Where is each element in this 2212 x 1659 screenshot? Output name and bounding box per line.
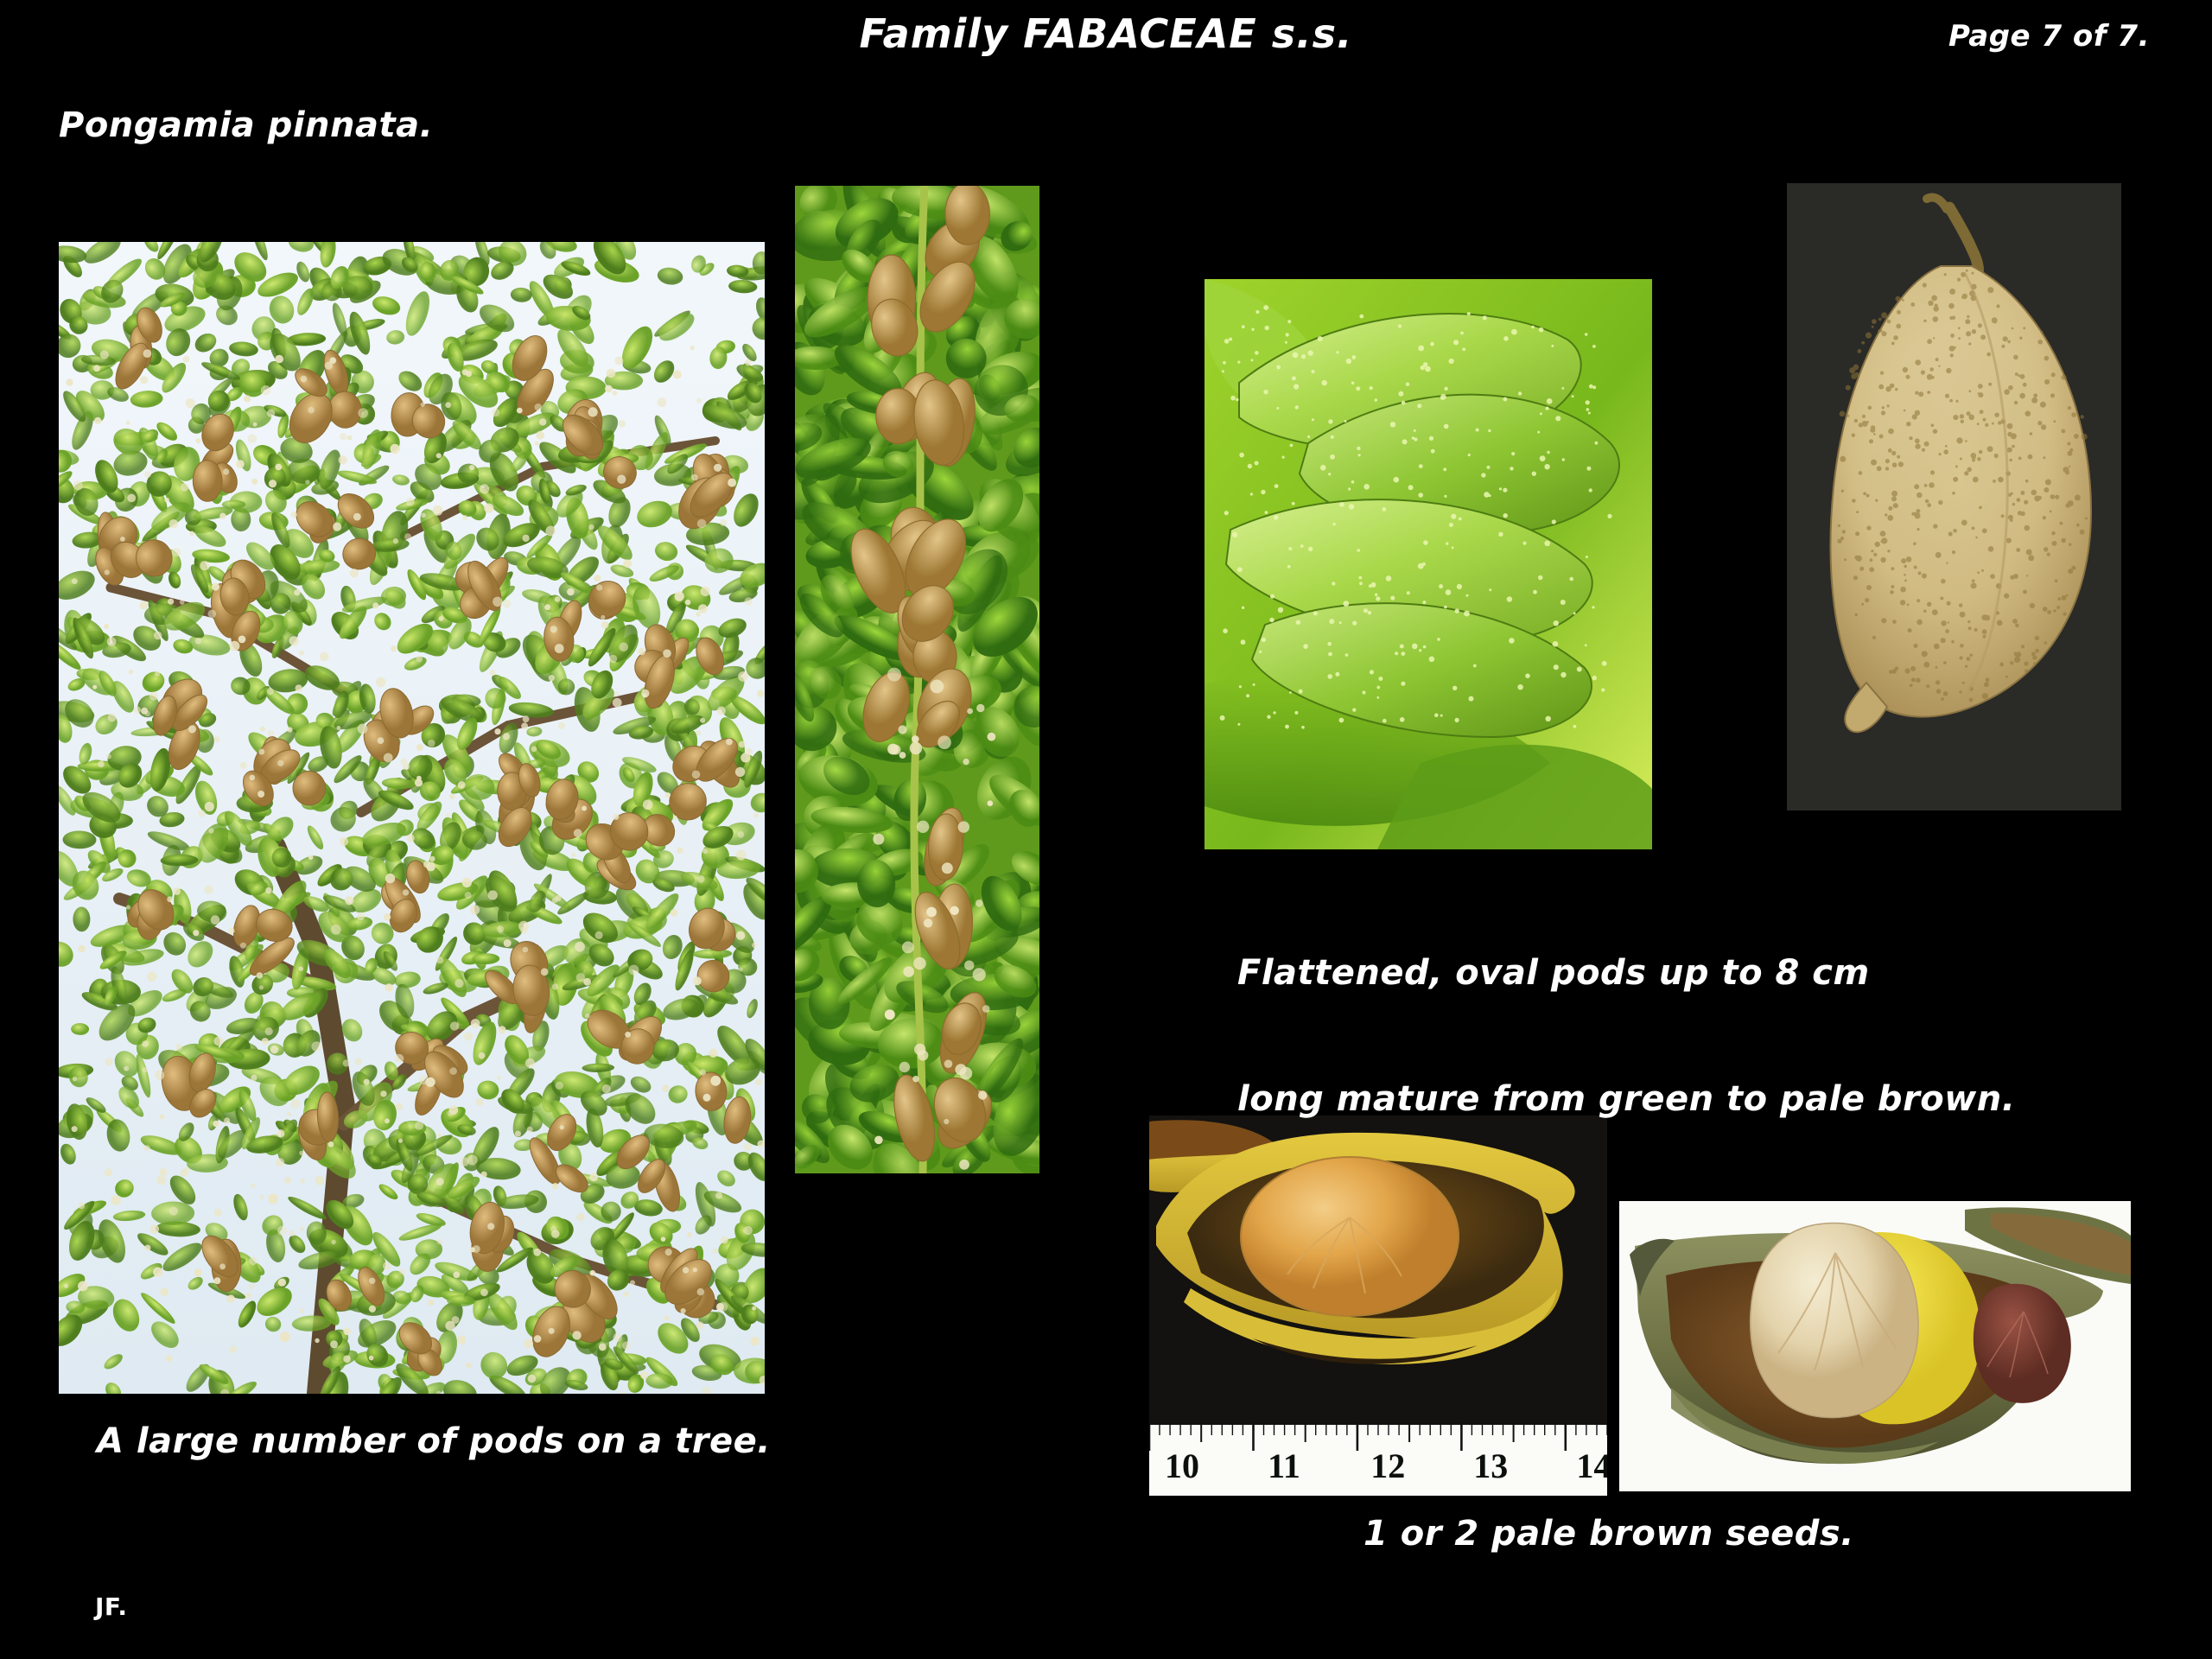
tree-with-pods-photo (59, 242, 765, 1394)
ruler-number: 10 (1165, 1446, 1199, 1486)
pods-caption-line2: long mature from green to pale brown. (1237, 1078, 2015, 1121)
tree-caption: A large number of pods on a tree. (97, 1421, 771, 1461)
seeds-caption: 1 or 2 pale brown seeds. (1363, 1514, 1854, 1554)
author-signature: JF. (95, 1592, 128, 1621)
slide-canvas: Family FABACEAE s.s. Page 7 of 7. Pongam… (0, 0, 2212, 1659)
species-name: Pongamia pinnata. (59, 105, 433, 145)
page-title: Family FABACEAE s.s. (0, 10, 2212, 57)
pod-cluster-strip-photo (795, 186, 1039, 1173)
ruler-number: 12 (1370, 1446, 1405, 1486)
dissected-pod-seeds-photo (1619, 1201, 2131, 1491)
pods-caption-line1: Flattened, oval pods up to 8 cm (1237, 952, 2015, 995)
ruler-number: 14 (1576, 1446, 1607, 1486)
pods-caption: Flattened, oval pods up to 8 cm long mat… (1237, 868, 2015, 1205)
page-number: Page 7 of 7. (1948, 19, 2150, 54)
tree-photo-art (59, 242, 765, 1394)
strip-photo-art (795, 186, 1039, 1173)
ruler: 1011121314 (1149, 1425, 1607, 1496)
green-pods-photo (1205, 279, 1652, 849)
green-pods-art (1205, 279, 1652, 849)
mature-brown-pod-photo (1787, 183, 2121, 810)
dissected-pod-art (1619, 1201, 2131, 1491)
ruler-number: 13 (1473, 1446, 1508, 1486)
ruler-number: 11 (1268, 1446, 1300, 1486)
brown-pod-art (1787, 183, 2121, 810)
